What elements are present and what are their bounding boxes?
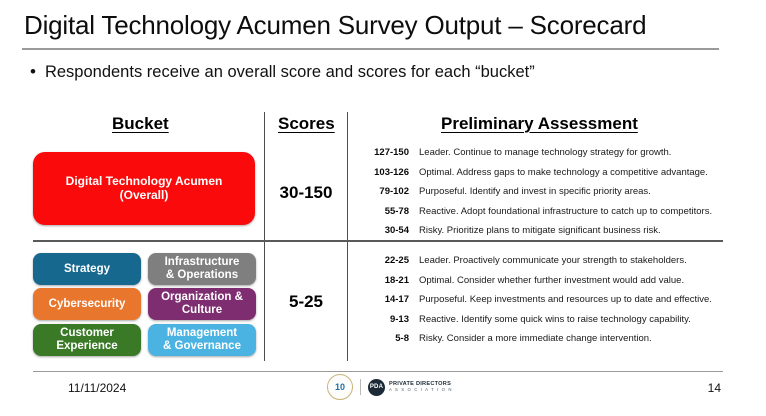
title-divider xyxy=(22,48,719,50)
column-divider-right xyxy=(347,112,348,361)
bucket-pill-label-line1: Customer xyxy=(60,327,114,339)
column-header-scores: Scores xyxy=(278,114,335,134)
pda-wordmark: PRIVATE DIRECTORS A S S O C I A T I O N xyxy=(389,382,453,392)
assessment-range: 5-8 xyxy=(356,333,409,344)
assessment-list-buckets: 22-25 Leader. Proactively communicate yo… xyxy=(356,255,712,353)
bucket-pill-label-line2: Experience xyxy=(56,340,117,352)
assessment-text: Purposeful. Keep investments and resourc… xyxy=(419,294,712,305)
assessment-text: Reactive. Adopt foundational infrastruct… xyxy=(419,206,712,217)
assessment-range: 9-13 xyxy=(356,314,409,325)
bucket-pill-label-line2: (Overall) xyxy=(120,188,169,202)
assessment-text: Purposeful. Identify and invest in speci… xyxy=(419,186,651,197)
pda-wordmark-line2: A S S O C I A T I O N xyxy=(389,388,453,393)
assessment-range: 127-150 xyxy=(356,147,409,158)
bucket-pill-label-line2: & Operations xyxy=(166,269,238,281)
bucket-pill-label: Organization & Culture xyxy=(161,291,243,317)
bucket-pill-label-line1: Management xyxy=(167,327,237,339)
bucket-pill-digital-technology-acumen-overall[interactable]: Digital Technology Acumen (Overall) xyxy=(33,152,255,225)
bucket-pill-label-line2: & Governance xyxy=(163,340,241,352)
assessment-range: 79-102 xyxy=(356,186,409,197)
bucket-pill-label: Digital Technology Acumen (Overall) xyxy=(66,175,223,202)
assessment-text: Optimal. Address gaps to make technology… xyxy=(419,167,708,178)
bucket-pill-label: Cybersecurity xyxy=(49,298,126,311)
assessment-text: Reactive. Identify some quick wins to ra… xyxy=(419,314,691,325)
bucket-pill-customer-experience[interactable]: Customer Experience xyxy=(33,324,141,356)
assessment-range: 14-17 xyxy=(356,294,409,305)
footer-date: 11/11/2024 xyxy=(68,381,126,395)
logo-separator xyxy=(360,379,361,395)
column-header-assessment: Preliminary Assessment xyxy=(441,114,638,134)
assessment-row: 79-102 Purposeful. Identify and invest i… xyxy=(356,186,712,206)
assessment-text: Optimal. Consider whether further invest… xyxy=(419,275,684,286)
assessment-range: 55-78 xyxy=(356,206,409,217)
footer-logos: 10 PDA PRIVATE DIRECTORS A S S O C I A T… xyxy=(327,374,453,400)
assessment-range: 103-126 xyxy=(356,167,409,178)
bullet-text: Respondents receive an overall score and… xyxy=(45,63,535,82)
assessment-range: 18-21 xyxy=(356,275,409,286)
private-directors-association-logo-icon: PDA PRIVATE DIRECTORS A S S O C I A T I … xyxy=(368,379,453,396)
footer-divider xyxy=(33,371,723,372)
assessment-row: 22-25 Leader. Proactively communicate yo… xyxy=(356,255,712,275)
score-range-buckets: 5-25 xyxy=(265,292,347,312)
score-range-overall: 30-150 xyxy=(265,183,347,203)
bucket-pill-label: Customer Experience xyxy=(56,327,117,353)
bucket-pill-label: Strategy xyxy=(64,263,110,276)
assessment-row: 55-78 Reactive. Adopt foundational infra… xyxy=(356,206,712,226)
bucket-pill-organization-culture[interactable]: Organization & Culture xyxy=(148,288,256,320)
bucket-pill-label: Management & Governance xyxy=(163,327,241,353)
assessment-row: 14-17 Purposeful. Keep investments and r… xyxy=(356,294,712,314)
page-title: Digital Technology Acumen Survey Output … xyxy=(24,10,646,41)
bucket-pill-label-line1: Organization & xyxy=(161,291,243,303)
bucket-pill-management-governance[interactable]: Management & Governance xyxy=(148,324,256,356)
anniversary-10-year-logo-icon: 10 xyxy=(327,374,353,400)
assessment-range: 30-54 xyxy=(356,225,409,236)
assessment-row: 127-150 Leader. Continue to manage techn… xyxy=(356,147,712,167)
assessment-row: 5-8 Risky. Consider a more immediate cha… xyxy=(356,333,712,353)
bucket-pill-infrastructure-operations[interactable]: Infrastructure & Operations xyxy=(148,253,256,285)
bucket-pill-label-line2: Culture xyxy=(182,304,222,316)
column-header-bucket: Bucket xyxy=(112,114,169,134)
assessment-row: 18-21 Optimal. Consider whether further … xyxy=(356,275,712,295)
assessment-row: 103-126 Optimal. Address gaps to make te… xyxy=(356,167,712,187)
bucket-pill-cybersecurity[interactable]: Cybersecurity xyxy=(33,288,141,320)
footer-page-number: 14 xyxy=(708,381,721,395)
slide-canvas: Digital Technology Acumen Survey Output … xyxy=(0,0,766,416)
assessment-text: Leader. Proactively communicate your str… xyxy=(419,255,687,266)
bucket-pill-strategy[interactable]: Strategy xyxy=(33,253,141,285)
column-divider-left xyxy=(264,112,265,361)
bucket-pill-label-line1: Digital Technology Acumen xyxy=(66,174,223,188)
assessment-list-overall: 127-150 Leader. Continue to manage techn… xyxy=(356,147,712,245)
assessment-text: Risky. Consider a more immediate change … xyxy=(419,333,652,344)
pda-monogram-icon: PDA xyxy=(368,379,385,396)
assessment-row: 30-54 Risky. Prioritize plans to mitigat… xyxy=(356,225,712,245)
bullet-line: • Respondents receive an overall score a… xyxy=(30,63,535,82)
assessment-row: 9-13 Reactive. Identify some quick wins … xyxy=(356,314,712,334)
assessment-range: 22-25 xyxy=(356,255,409,266)
assessment-text: Risky. Prioritize plans to mitigate sign… xyxy=(419,225,661,236)
bullet-marker-icon: • xyxy=(30,63,36,80)
bucket-pill-label: Infrastructure & Operations xyxy=(165,256,240,282)
bucket-pill-label-line1: Infrastructure xyxy=(165,256,240,268)
assessment-text: Leader. Continue to manage technology st… xyxy=(419,147,671,158)
